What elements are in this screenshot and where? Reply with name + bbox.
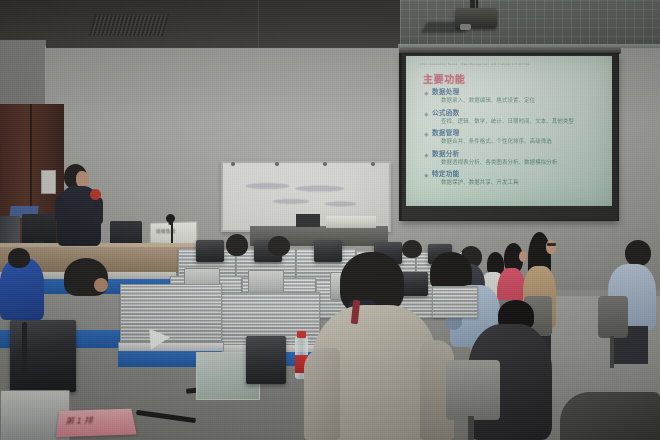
student-head — [226, 234, 248, 256]
slide-title: 主要功能 — [423, 71, 465, 86]
front-counter-edge — [0, 243, 212, 247]
slide-section-heading: 公式函数 — [424, 109, 608, 118]
slide-section: 数据管理 数据合并、条件格式、个性化排序、高级筛选 — [424, 129, 608, 147]
slide-section-heading: 数据管理 — [424, 129, 608, 138]
glasses — [547, 243, 556, 246]
slide-body: 数据处理 数据录入、数据编辑、格式设置、定位 公式函数 查找、逻辑、数学、统计、… — [424, 88, 608, 191]
slide-section-heading: 数据分析 — [424, 150, 608, 159]
water-bottle-cap — [297, 331, 306, 338]
slide-section-heading: 特定功能 — [424, 170, 608, 179]
projector-lens — [460, 24, 471, 30]
presenter-arm — [55, 196, 64, 222]
desk-partition — [432, 286, 478, 318]
podium-computer-tower — [0, 216, 20, 246]
slide-section-detail: 数据保护、数据共享、开发工具 — [424, 179, 608, 188]
desk-sign: 班级信息 — [150, 221, 197, 245]
slide-section: 特定功能 数据保护、数据共享、开发工具 — [424, 170, 608, 188]
student-head — [402, 240, 422, 258]
slide-section: 数据处理 数据录入、数据编辑、格式设置、定位 — [424, 88, 608, 106]
slide-section-detail: 数据透视表分析、各类图表分析、数据模拟分析 — [424, 159, 608, 168]
projected-slide: Office Automation Series · Data Manageme… — [406, 56, 612, 206]
chair-leg — [610, 336, 614, 368]
table-paper-stack — [326, 216, 376, 228]
wall-notice-paper — [41, 170, 56, 194]
monitor-back — [314, 240, 342, 262]
chair-foreground — [446, 360, 500, 420]
desk-partition-large — [120, 284, 222, 348]
chair — [598, 296, 628, 338]
ceiling-seam — [400, 0, 401, 52]
monitor-back — [246, 336, 286, 384]
foreground-shadow-object — [560, 392, 660, 440]
desk-nameplate: 第 1 排 — [56, 409, 137, 438]
slide-section-detail: 数据合并、条件格式、个性化排序、高级筛选 — [424, 138, 608, 147]
face — [519, 251, 527, 262]
ceiling-seam — [258, 0, 259, 52]
monitor-cable — [22, 322, 27, 380]
classroom-photo-scene: Office Automation Series · Data Manageme… — [0, 0, 660, 440]
whiteboard-writing — [239, 179, 369, 211]
nameplate-text: 第 1 排 — [64, 414, 93, 427]
slide-section-detail: 查找、逻辑、数学、统计、日期时间、文本、其他类型 — [424, 118, 608, 127]
slide-section: 数据分析 数据透视表分析、各类图表分析、数据模拟分析 — [424, 150, 608, 168]
chair-leg — [468, 416, 474, 440]
slide-header-text: Office Automation Series · Data Manageme… — [419, 62, 606, 66]
monitor-back — [196, 240, 224, 262]
paper-triangle — [149, 327, 170, 349]
monitor-back-foreground — [10, 320, 76, 392]
slide-section-heading: 数据处理 — [424, 88, 608, 97]
podium-laptop — [110, 221, 142, 245]
presenter-held-red-object — [90, 189, 101, 200]
student-head — [268, 236, 290, 256]
gray-jacket-arm — [304, 348, 340, 440]
table-black-box — [296, 214, 320, 227]
presenter-arm — [93, 197, 103, 225]
ceiling-vent — [89, 14, 169, 36]
slide-section: 公式函数 查找、逻辑、数学、统计、日期时间、文本、其他类型 — [424, 109, 608, 127]
slide-section-detail: 数据录入、数据编辑、格式设置、定位 — [424, 97, 608, 106]
